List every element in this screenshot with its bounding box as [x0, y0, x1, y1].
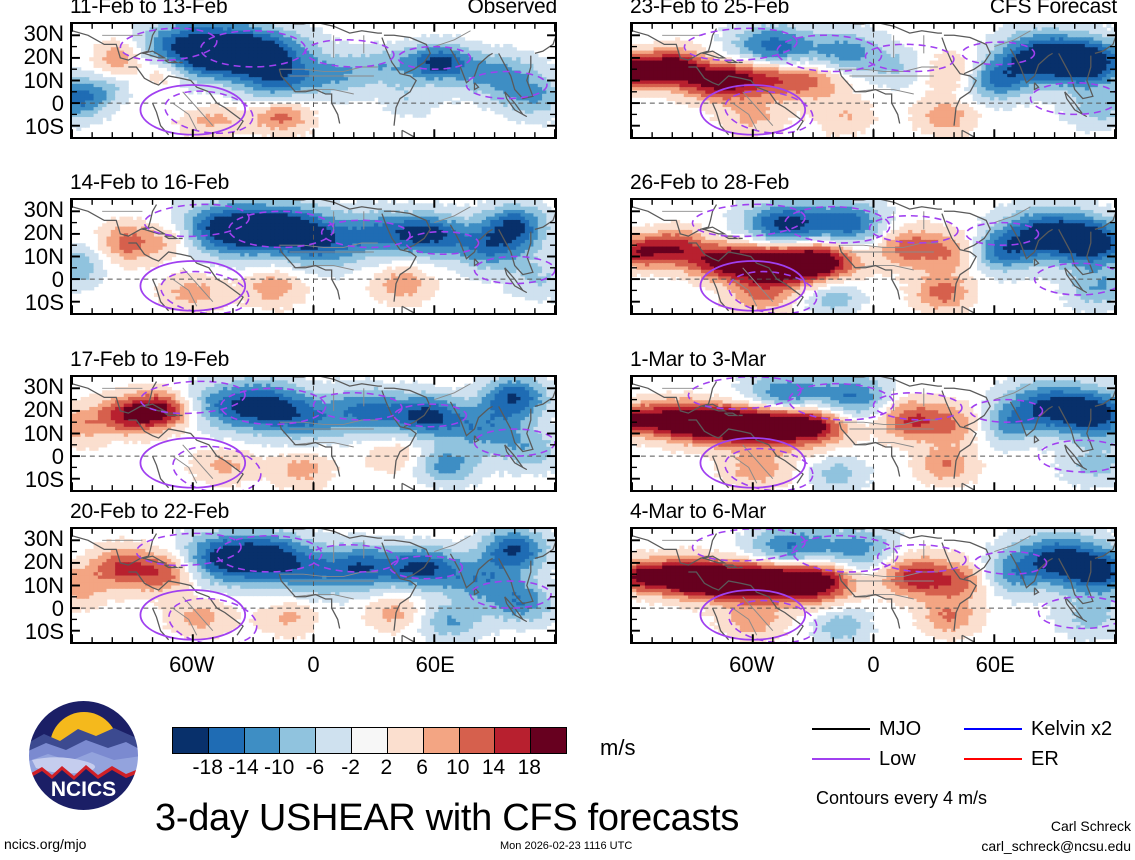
colorbar-segment	[495, 728, 531, 753]
colorbar: -18-14-10-6-226101418	[172, 727, 567, 780]
x-axis-tick-label: 60E	[416, 652, 455, 678]
colorbar-swatches	[172, 727, 567, 754]
y-axis-tick-label: 20N	[24, 46, 64, 68]
panel-title: 26-Feb to 28-Feb	[630, 171, 789, 195]
panel-title: 4-Mar to 6-Mar	[630, 500, 766, 524]
map-panel-left-4: 20-Feb to 22-Feb30N20N10N010S60W060E	[70, 527, 557, 644]
y-axis-tick-label: 0	[52, 598, 64, 620]
y-axis-tick-label: 30N	[24, 376, 64, 398]
y-axis-tick-label: 0	[52, 446, 64, 468]
colorbar-tick: 18	[518, 756, 541, 780]
map-panel-left-2: 14-Feb to 16-Feb30N20N10N010S	[70, 198, 557, 315]
colorbar-segment	[531, 728, 566, 753]
y-axis-tick-label: 10N	[24, 246, 64, 268]
er-line-icon	[964, 758, 1022, 760]
y-axis-tick-label: 30N	[24, 23, 64, 45]
legend-row: MJO Kelvin x2	[812, 714, 1116, 744]
map-field	[630, 375, 1117, 492]
map-panel-right-1: 23-Feb to 25-FebCFS Forecast	[630, 22, 1117, 139]
colorbar-tick: 14	[482, 756, 505, 780]
map-field	[70, 527, 557, 644]
colorbar-segment	[316, 728, 352, 753]
legend-label: MJO	[879, 718, 921, 741]
logo-url-label: ncics.org/mjo	[4, 836, 86, 852]
y-axis-tick-label: 0	[52, 269, 64, 291]
y-axis-tick-label: 10S	[25, 116, 64, 138]
colorbar-tick: 6	[416, 756, 428, 780]
y-axis-tick-label: 30N	[24, 199, 64, 221]
author-email-label: carl_schreck@ncsu.edu	[981, 838, 1131, 854]
panel-title: 23-Feb to 25-Feb	[630, 0, 789, 19]
colorbar-segment	[173, 728, 209, 753]
colorbar-segment	[352, 728, 388, 753]
colorbar-segment	[388, 728, 424, 753]
colorbar-tick: -2	[341, 756, 360, 780]
colorbar-segment	[209, 728, 245, 753]
x-axis-tick-label: 0	[867, 652, 879, 678]
legend-item-er: ER	[964, 748, 1116, 771]
legend-label: Kelvin x2	[1031, 718, 1112, 741]
y-axis-tick-label: 10N	[24, 423, 64, 445]
colorbar-tick: -10	[264, 756, 294, 780]
map-panel-left-1: 11-Feb to 13-FebObserved30N20N10N010S	[70, 22, 557, 139]
y-axis-tick-label: 10N	[24, 70, 64, 92]
y-axis-tick-label: 10S	[25, 292, 64, 314]
colorbar-tick: -14	[228, 756, 258, 780]
map-panel-right-2: 26-Feb to 28-Feb	[630, 198, 1117, 315]
map-field	[70, 22, 557, 139]
logo-text: NCICS	[51, 778, 116, 801]
x-axis-tick-label: 0	[307, 652, 319, 678]
colorbar-tick: -6	[306, 756, 325, 780]
mjo-line-icon	[812, 728, 870, 730]
colorbar-segment	[280, 728, 316, 753]
map-panel-left-3: 17-Feb to 19-Feb30N20N10N010S	[70, 375, 557, 492]
map-field	[70, 198, 557, 315]
colorbar-segment	[424, 728, 460, 753]
y-axis-tick-label: 20N	[24, 399, 64, 421]
low-line-icon	[812, 758, 870, 760]
y-axis-tick-label: 10N	[24, 575, 64, 597]
contour-legend: MJO Kelvin x2 Low ER	[812, 714, 1116, 774]
legend-item-low: Low	[812, 748, 964, 771]
kelvin-line-icon	[964, 728, 1022, 730]
x-axis-tick-label: 60E	[976, 652, 1015, 678]
legend-label: ER	[1031, 748, 1059, 771]
map-field	[630, 198, 1117, 315]
map-panel-right-3: 1-Mar to 3-Mar	[630, 375, 1117, 492]
timestamp-label: Mon 2026-02-23 1116 UTC	[500, 840, 632, 852]
panel-title: 11-Feb to 13-Feb	[70, 0, 228, 19]
y-axis-tick-label: 10S	[25, 469, 64, 491]
legend-item-mjo: MJO	[812, 718, 964, 741]
panel-title: 17-Feb to 19-Feb	[70, 348, 229, 372]
colorbar-segment	[460, 728, 496, 753]
map-panel-right-4: 4-Mar to 6-Mar60W060E	[630, 527, 1117, 644]
column-header-right: CFS Forecast	[990, 0, 1117, 19]
y-axis-tick-label: 10S	[25, 621, 64, 643]
map-field	[630, 527, 1117, 644]
colorbar-tick: -18	[193, 756, 223, 780]
author-label: Carl Schreck	[1051, 818, 1131, 834]
panel-title: 20-Feb to 22-Feb	[70, 500, 229, 524]
page-title: 3-day USHEAR with CFS forecasts	[155, 797, 739, 840]
colorbar-tick: 10	[446, 756, 469, 780]
map-field	[630, 22, 1117, 139]
legend-row: Low ER	[812, 744, 1116, 774]
colorbar-tick: 2	[381, 756, 393, 780]
legend-item-kelvin: Kelvin x2	[964, 718, 1116, 741]
panel-title: 14-Feb to 16-Feb	[70, 171, 229, 195]
y-axis-tick-label: 20N	[24, 222, 64, 244]
column-header-left: Observed	[468, 0, 557, 19]
colorbar-units-label: m/s	[600, 735, 635, 761]
x-axis-tick-label: 60W	[169, 652, 214, 678]
contour-interval-note: Contours every 4 m/s	[816, 788, 987, 809]
colorbar-segment	[245, 728, 281, 753]
y-axis-tick-label: 30N	[24, 528, 64, 550]
y-axis-tick-label: 20N	[24, 551, 64, 573]
map-field	[70, 375, 557, 492]
panel-title: 1-Mar to 3-Mar	[630, 348, 766, 372]
y-axis-tick-label: 0	[52, 93, 64, 115]
x-axis-tick-label: 60W	[729, 652, 774, 678]
legend-label: Low	[879, 748, 916, 771]
ncics-logo: NCICS	[26, 698, 141, 813]
colorbar-tick-labels: -18-14-10-6-226101418	[172, 754, 565, 780]
